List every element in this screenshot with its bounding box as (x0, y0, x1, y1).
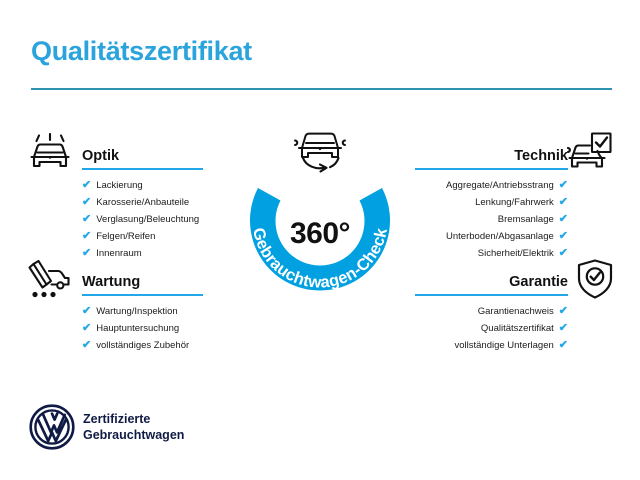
list-item: ✔vollständiges Zubehör (82, 337, 203, 354)
quality-certificate-page: Qualitätszertifikat (0, 0, 640, 480)
section-wartung-title: Wartung (82, 274, 140, 290)
section-garantie-divider (415, 294, 568, 296)
check-icon: ✔ (559, 323, 568, 334)
check-icon: ✔ (82, 180, 91, 191)
check-icon: ✔ (559, 340, 568, 351)
section-technik: Technik Aggregate/Antriebsstrang✔ Lenkun… (415, 140, 568, 262)
section-wartung-divider (82, 294, 203, 296)
shield-check-icon (572, 258, 618, 300)
section-technik-header: Technik (415, 140, 568, 170)
list-item-label: Lenkung/Fahrwerk (475, 198, 554, 208)
check-icon: ✔ (559, 197, 568, 208)
list-item-label: vollständiges Zubehör (96, 341, 189, 351)
list-item: ✔Verglasung/Beleuchtung (82, 211, 203, 228)
section-garantie: Garantie Garantienachweis✔ Qualitätszert… (415, 266, 568, 354)
check-icon: ✔ (559, 180, 568, 191)
list-item-label: Qualitätszertifikat (481, 324, 554, 334)
list-item: ✔Karosserie/Anbauteile (82, 194, 203, 211)
title-divider (31, 88, 612, 90)
car-shine-icon (27, 133, 73, 175)
car-checkbox-icon (566, 132, 612, 174)
list-item: ✔Lackierung (82, 177, 203, 194)
volkswagen-logo (29, 404, 75, 450)
list-item-label: Felgen/Reifen (96, 232, 155, 242)
list-item: Bremsanlage✔ (415, 211, 568, 228)
check-icon: ✔ (82, 214, 91, 225)
check-icon: ✔ (559, 306, 568, 317)
section-wartung: Wartung ✔Wartung/Inspektion ✔Hauptunters… (82, 266, 203, 354)
list-item-label: Wartung/Inspektion (96, 307, 178, 317)
section-optik: Optik ✔Lackierung ✔Karosserie/Anbauteile… (82, 140, 203, 262)
section-optik-header: Optik (82, 140, 203, 170)
section-technik-divider (415, 168, 568, 170)
list-item-label: Karosserie/Anbauteile (96, 198, 189, 208)
badge-degrees-label: 360° (228, 217, 412, 251)
list-item: Qualitätszertifikat✔ (415, 320, 568, 337)
section-optik-title: Optik (82, 148, 119, 164)
list-item-label: vollständige Unterlagen (454, 341, 553, 351)
check-icon: ✔ (559, 214, 568, 225)
list-item: ✔Wartung/Inspektion (82, 303, 203, 320)
check-icon: ✔ (82, 197, 91, 208)
list-item-label: Unterboden/Abgasanlage (446, 232, 554, 242)
section-garantie-list: Garantienachweis✔ Qualitätszertifikat✔ v… (415, 303, 568, 354)
list-item-label: Hauptuntersuchung (96, 324, 179, 334)
list-item-label: Bremsanlage (498, 215, 554, 225)
section-optik-list: ✔Lackierung ✔Karosserie/Anbauteile ✔Verg… (82, 177, 203, 262)
list-item-label: Sicherheit/Elektrik (478, 249, 554, 259)
list-item: Sicherheit/Elektrik✔ (415, 245, 568, 262)
list-item: ✔Hauptuntersuchung (82, 320, 203, 337)
check-icon: ✔ (559, 231, 568, 242)
list-item: vollständige Unterlagen✔ (415, 337, 568, 354)
car-rotate-icon (289, 122, 351, 174)
section-technik-title: Technik (514, 148, 568, 164)
list-item-label: Aggregate/Antriebsstrang (446, 181, 554, 191)
section-wartung-list: ✔Wartung/Inspektion ✔Hauptuntersuchung ✔… (82, 303, 203, 354)
360-gebrauchtwagen-check-badge: Gebrauchtwagen-Check 360° (228, 128, 412, 312)
check-icon: ✔ (82, 340, 91, 351)
section-wartung-header: Wartung (82, 266, 203, 296)
check-icon: ✔ (82, 306, 91, 317)
check-icon: ✔ (559, 248, 568, 259)
footer-lockup-text: Zertifizierte Gebrauchtwagen (83, 411, 184, 443)
check-icon: ✔ (82, 231, 91, 242)
list-item: ✔Innenraum (82, 245, 203, 262)
list-item: Unterboden/Abgasanlage✔ (415, 228, 568, 245)
section-garantie-header: Garantie (415, 266, 568, 296)
list-item: Lenkung/Fahrwerk✔ (415, 194, 568, 211)
car-service-pen-icon (27, 258, 73, 300)
check-icon: ✔ (82, 323, 91, 334)
footer-line-1: Zertifizierte (83, 411, 184, 427)
check-icon: ✔ (82, 248, 91, 259)
footer-line-2: Gebrauchtwagen (83, 427, 184, 443)
list-item-label: Verglasung/Beleuchtung (96, 215, 199, 225)
section-garantie-title: Garantie (509, 274, 568, 290)
list-item: Aggregate/Antriebsstrang✔ (415, 177, 568, 194)
list-item: Garantienachweis✔ (415, 303, 568, 320)
list-item-label: Garantienachweis (478, 307, 554, 317)
list-item-label: Innenraum (96, 249, 141, 259)
page-title: Qualitätszertifikat (31, 36, 252, 67)
list-item: ✔Felgen/Reifen (82, 228, 203, 245)
section-technik-list: Aggregate/Antriebsstrang✔ Lenkung/Fahrwe… (415, 177, 568, 262)
list-item-label: Lackierung (96, 181, 142, 191)
section-optik-divider (82, 168, 203, 170)
